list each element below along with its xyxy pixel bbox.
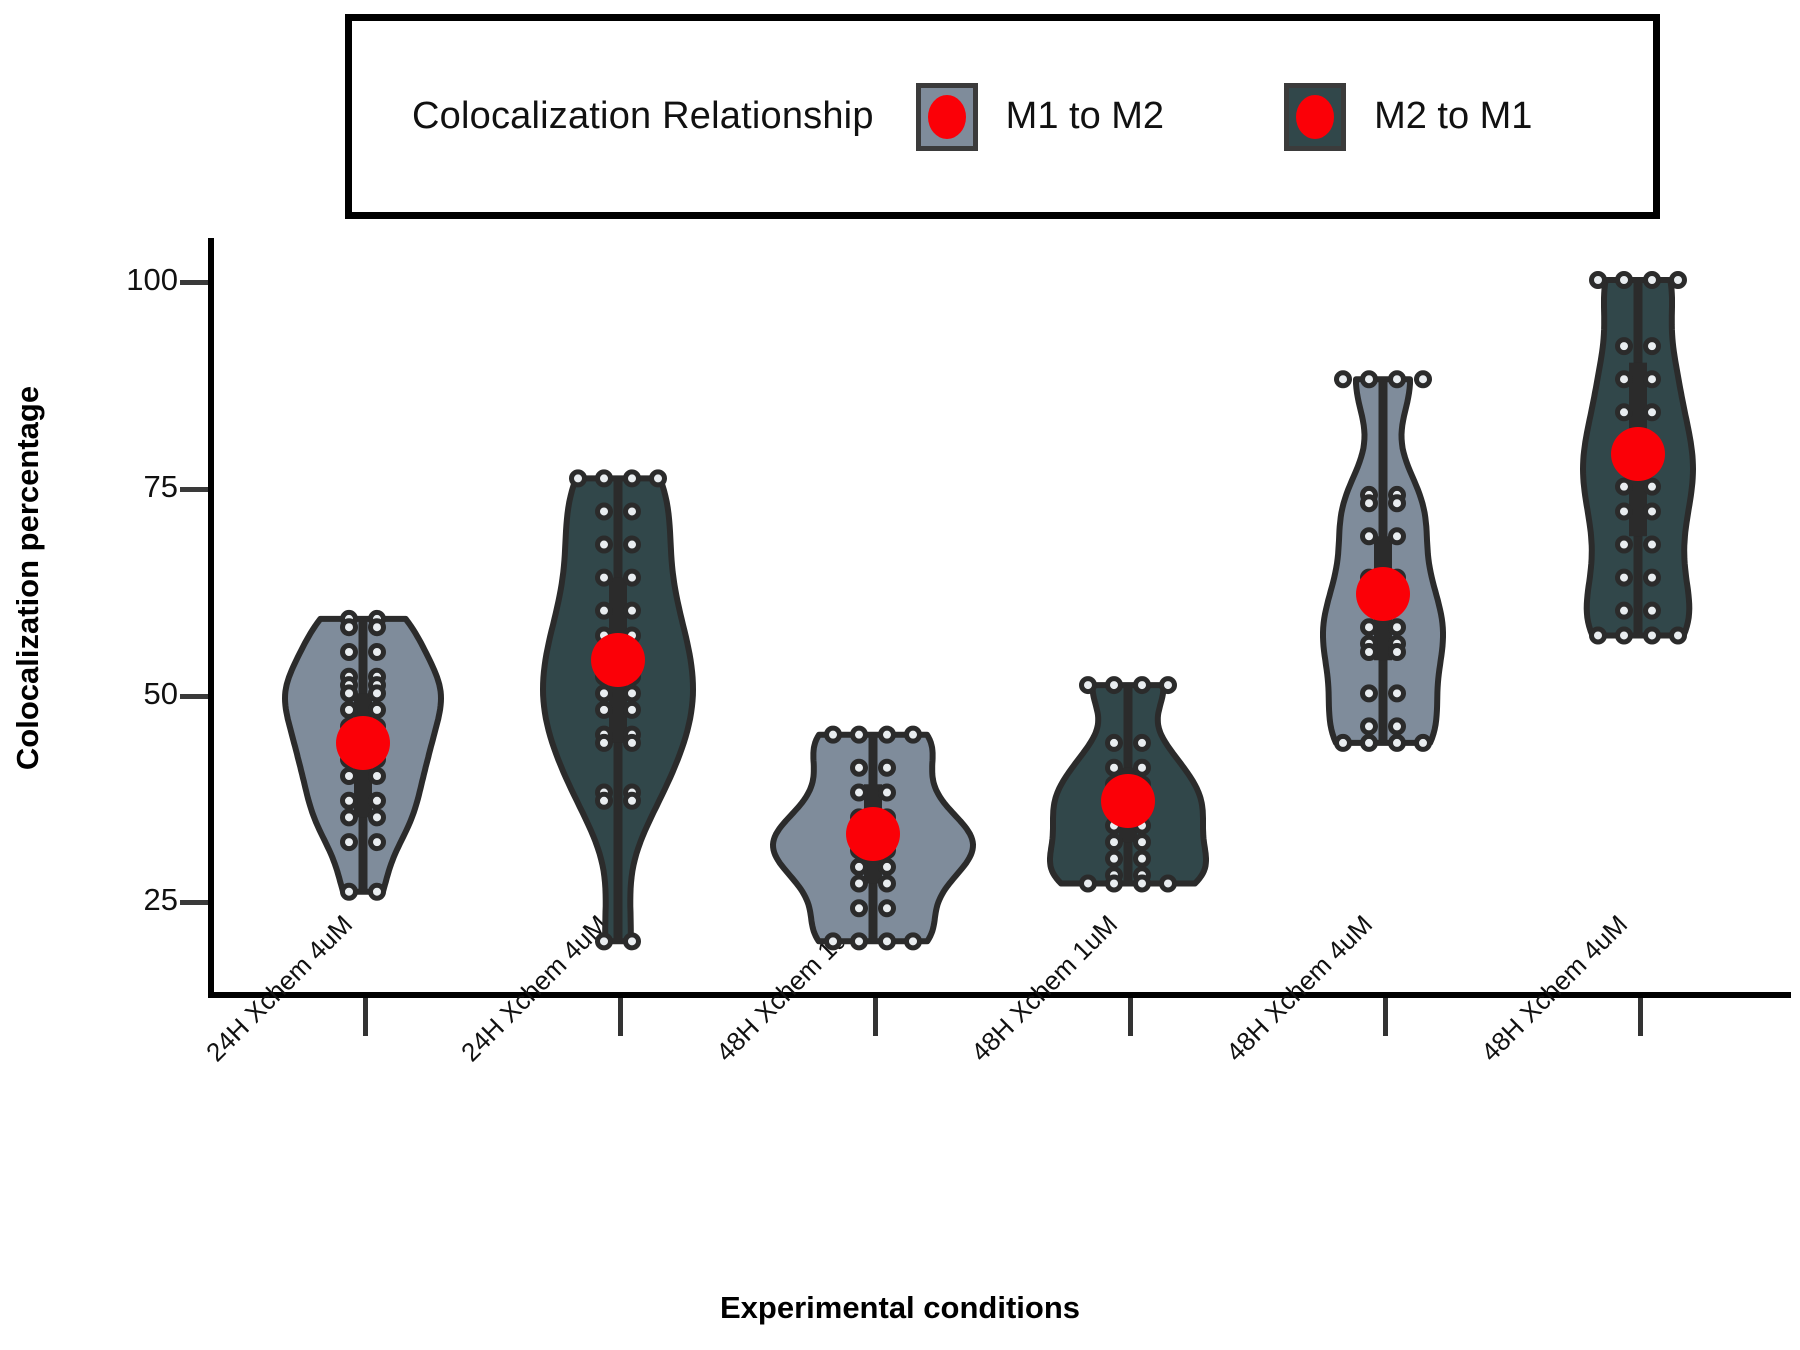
data-point	[907, 935, 920, 948]
data-point	[371, 646, 384, 659]
data-point	[1618, 274, 1631, 287]
data-point	[1136, 736, 1149, 749]
data-point	[343, 836, 356, 849]
data-point	[1391, 687, 1404, 700]
data-point	[1108, 877, 1121, 890]
data-point	[1363, 720, 1376, 733]
data-point	[1672, 629, 1685, 642]
data-point	[598, 703, 611, 716]
data-point	[1646, 629, 1659, 642]
data-point	[881, 761, 894, 774]
data-point	[1618, 629, 1631, 642]
mean-marker-red-dot	[591, 633, 645, 687]
data-point	[1136, 761, 1149, 774]
data-point	[371, 836, 384, 849]
data-point	[853, 935, 866, 948]
data-point	[1646, 571, 1659, 584]
data-point	[652, 472, 665, 485]
violin-plot-figure: Colocalization Relationship M1 to M2 M2 …	[0, 0, 1800, 1350]
data-point	[1391, 646, 1404, 659]
data-point	[1136, 877, 1149, 890]
data-point	[881, 728, 894, 741]
data-point	[1646, 340, 1659, 353]
data-point	[1618, 604, 1631, 617]
data-point	[853, 786, 866, 799]
data-point	[1082, 679, 1095, 692]
data-point	[1391, 720, 1404, 733]
data-point	[1108, 852, 1121, 865]
data-point	[1162, 877, 1175, 890]
data-point	[1363, 373, 1376, 386]
data-point	[1363, 646, 1376, 659]
mean-marker-red-dot	[336, 716, 390, 770]
data-point	[853, 761, 866, 774]
data-point	[598, 604, 611, 617]
data-point	[1417, 736, 1430, 749]
mean-marker-red-dot	[1611, 427, 1665, 481]
data-point	[1618, 505, 1631, 518]
data-point	[1646, 406, 1659, 419]
data-point	[626, 604, 639, 617]
data-point	[1363, 530, 1376, 543]
data-point	[881, 877, 894, 890]
data-point	[1363, 736, 1376, 749]
data-point	[1108, 836, 1121, 849]
data-point	[1646, 274, 1659, 287]
mean-marker-red-dot	[846, 807, 900, 861]
data-point	[1618, 480, 1631, 493]
data-point	[1592, 274, 1605, 287]
data-point	[343, 811, 356, 824]
data-point	[343, 621, 356, 634]
data-point	[1391, 373, 1404, 386]
data-point	[626, 736, 639, 749]
data-point	[371, 687, 384, 700]
data-point	[1391, 736, 1404, 749]
data-point	[1646, 538, 1659, 551]
mean-marker-red-dot	[1101, 774, 1155, 828]
data-point	[1337, 736, 1350, 749]
data-point	[1337, 373, 1350, 386]
data-point	[1108, 736, 1121, 749]
data-point	[1108, 761, 1121, 774]
data-point	[626, 703, 639, 716]
data-point	[1108, 679, 1121, 692]
data-point	[1136, 836, 1149, 849]
data-point	[1618, 340, 1631, 353]
data-point	[598, 935, 611, 948]
data-point	[343, 885, 356, 898]
data-point	[598, 687, 611, 700]
data-point	[1618, 571, 1631, 584]
data-point	[1646, 505, 1659, 518]
data-point	[881, 786, 894, 799]
data-point	[1618, 373, 1631, 386]
violin-canvas	[0, 0, 1800, 1350]
data-point	[598, 505, 611, 518]
data-point	[626, 472, 639, 485]
data-point	[1363, 621, 1376, 634]
data-point	[1672, 274, 1685, 287]
data-point	[343, 703, 356, 716]
data-point	[1162, 679, 1175, 692]
data-point	[626, 571, 639, 584]
data-point	[626, 505, 639, 518]
data-point	[598, 571, 611, 584]
data-point	[1082, 877, 1095, 890]
data-point	[1391, 621, 1404, 634]
data-point	[1618, 406, 1631, 419]
data-point	[853, 860, 866, 873]
data-point	[907, 728, 920, 741]
data-point	[1646, 480, 1659, 493]
data-point	[881, 902, 894, 915]
data-point	[853, 877, 866, 890]
data-point	[572, 472, 585, 485]
data-point	[881, 935, 894, 948]
data-point	[1391, 530, 1404, 543]
data-point	[598, 538, 611, 551]
data-point	[598, 472, 611, 485]
data-point	[1363, 687, 1376, 700]
data-point	[343, 687, 356, 700]
data-point	[343, 794, 356, 807]
data-point	[371, 621, 384, 634]
data-point	[598, 794, 611, 807]
data-point	[1363, 497, 1376, 510]
data-point	[371, 811, 384, 824]
data-point	[371, 885, 384, 898]
data-point	[1391, 497, 1404, 510]
data-point	[626, 935, 639, 948]
data-point	[1592, 629, 1605, 642]
mean-marker-red-dot	[1356, 567, 1410, 621]
data-point	[1136, 852, 1149, 865]
data-point	[371, 770, 384, 783]
data-point	[853, 902, 866, 915]
data-point	[343, 646, 356, 659]
data-point	[1646, 373, 1659, 386]
data-point	[343, 770, 356, 783]
data-point	[626, 538, 639, 551]
data-point	[1646, 604, 1659, 617]
data-point	[371, 703, 384, 716]
data-point	[626, 687, 639, 700]
data-point	[371, 794, 384, 807]
data-point	[626, 794, 639, 807]
data-point	[881, 860, 894, 873]
data-point	[1417, 373, 1430, 386]
data-point	[827, 728, 840, 741]
data-point	[853, 728, 866, 741]
data-point	[1618, 538, 1631, 551]
data-point	[827, 935, 840, 948]
data-point	[598, 736, 611, 749]
data-point	[1136, 679, 1149, 692]
